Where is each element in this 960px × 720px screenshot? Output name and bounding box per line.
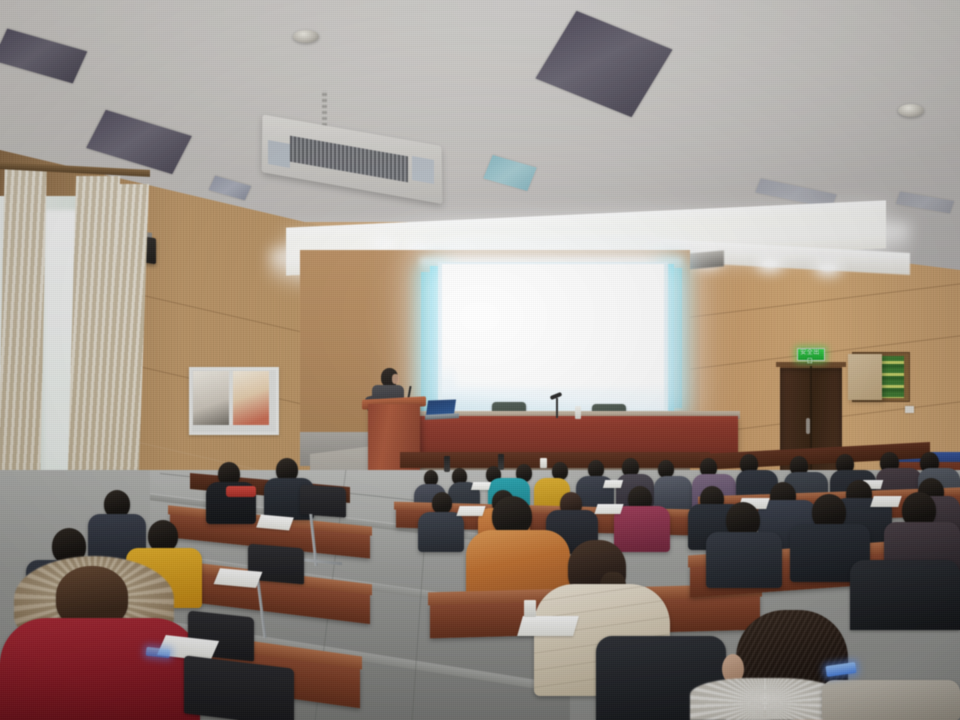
exit-sign-label: 安全出口 bbox=[798, 349, 822, 358]
attendee-torso bbox=[654, 476, 692, 510]
attendee-head bbox=[432, 492, 452, 514]
downlight-icon bbox=[820, 264, 836, 271]
attendee-torso bbox=[706, 532, 782, 588]
paper-handout bbox=[256, 515, 294, 531]
red-scarf bbox=[226, 486, 256, 497]
dome-light-icon bbox=[898, 104, 924, 117]
attendee-fur-collar bbox=[690, 678, 840, 720]
paper-cup bbox=[540, 458, 547, 468]
paper-handout bbox=[517, 616, 579, 636]
ac-vane bbox=[268, 140, 290, 168]
attendee-torso bbox=[614, 506, 670, 552]
wall-cabinet-door[interactable] bbox=[848, 354, 882, 400]
attendee-torso bbox=[822, 680, 960, 720]
window-pane bbox=[193, 371, 229, 425]
drink-bottle bbox=[444, 456, 450, 472]
paper-handout bbox=[603, 480, 623, 488]
ac-vane bbox=[412, 156, 434, 184]
window-pane bbox=[233, 371, 269, 425]
paper-handout bbox=[870, 496, 902, 507]
water-bottle bbox=[575, 406, 581, 419]
attendee-torso bbox=[0, 618, 200, 720]
downlight-icon bbox=[375, 240, 391, 247]
presenter-face bbox=[392, 374, 399, 384]
auditorium-chair bbox=[850, 560, 960, 630]
auditorium-chair bbox=[300, 484, 346, 517]
paper-handout bbox=[456, 506, 485, 516]
light-switch[interactable] bbox=[905, 406, 914, 413]
attendee-torso bbox=[418, 512, 464, 552]
door-handle[interactable] bbox=[806, 418, 810, 434]
paper-handout bbox=[471, 482, 491, 490]
downlight-icon bbox=[762, 260, 778, 267]
drink-bottle bbox=[498, 454, 504, 470]
window-mullion bbox=[229, 371, 233, 425]
table-microphone-stand bbox=[556, 398, 558, 418]
dome-light-icon bbox=[293, 30, 319, 43]
wall-cabinet-contents bbox=[880, 356, 904, 398]
paper-cup bbox=[524, 600, 536, 617]
door-center-seam bbox=[810, 366, 812, 482]
hanging-light-fixture bbox=[686, 250, 724, 269]
paper-handout bbox=[594, 504, 623, 514]
lecture-hall-photograph: 安全出口 bbox=[0, 0, 960, 720]
led-light-column bbox=[672, 268, 682, 408]
projection-screen-hotspot bbox=[455, 268, 651, 388]
